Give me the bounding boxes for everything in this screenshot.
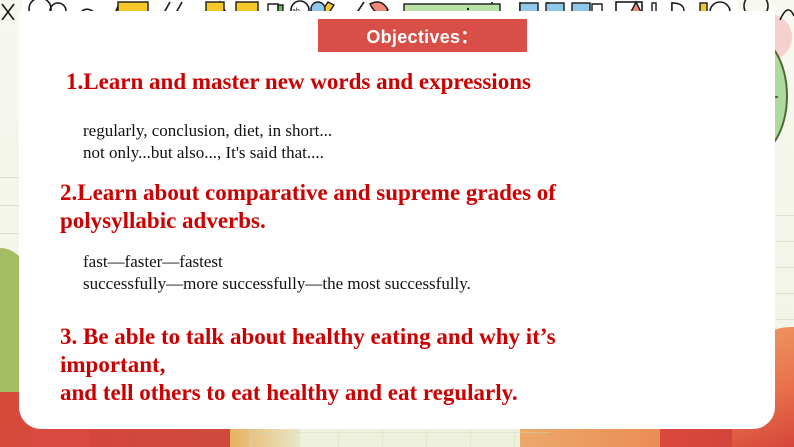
objective-2-heading: 2.Learn about comparative and supreme gr… [60, 179, 620, 235]
objective-1-detail: regularly, conclusion, diet, in short...… [83, 120, 332, 164]
objectives-list: 1.Learn and master new words and express… [19, 11, 775, 429]
slide-canvas: ab Objectives： 1.Learn and master new wo… [0, 0, 794, 447]
objective-1-heading: 1.Learn and master new words and express… [66, 68, 531, 96]
left-grid-lines [0, 150, 20, 260]
content-card: Objectives： 1.Learn and master new words… [19, 11, 775, 429]
objective-3-heading: 3. Be able to talk about healthy eating … [60, 323, 660, 407]
objective-2-detail: fast—faster—fastest successfully—more su… [83, 251, 471, 295]
